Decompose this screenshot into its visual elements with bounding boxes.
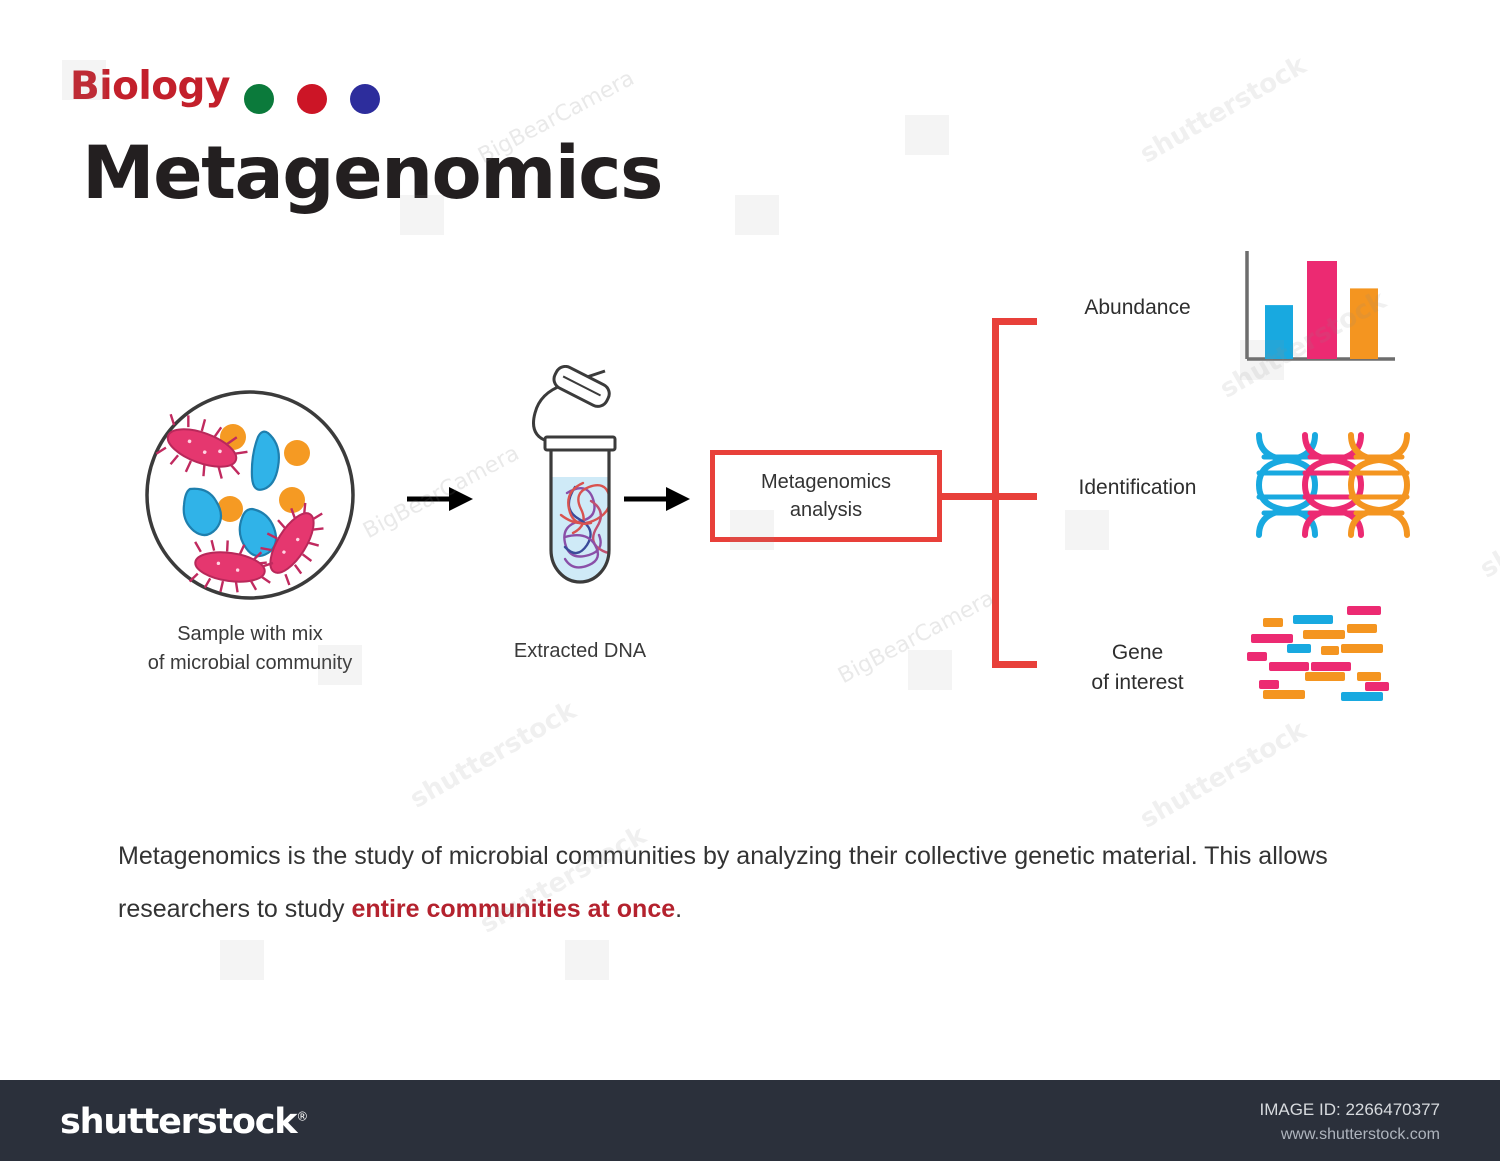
watermark-shutterstock: shutterstock xyxy=(1135,715,1311,834)
outcome-gene-label-line1: Gene xyxy=(1045,638,1230,668)
branch-bracket xyxy=(940,300,1060,690)
shutterstock-logo: shutterstock® xyxy=(60,1102,307,1142)
description-emphasis: entire communities at once xyxy=(351,895,675,923)
metagenomics-analysis-box[interactable]: Metagenomics analysis xyxy=(710,450,942,542)
outcome-gene-label-line2: of interest xyxy=(1045,668,1230,698)
outcome-identification: Identification xyxy=(1045,425,1465,545)
gene-fragments-icon xyxy=(1235,600,1410,720)
outcome-abundance-label-line1: Abundance xyxy=(1045,293,1230,323)
blue-dot-icon xyxy=(350,84,380,114)
bracket-stub-identification xyxy=(942,493,1037,500)
outcome-gene-label: Gene of interest xyxy=(1045,638,1230,698)
kicker-biology: Biology xyxy=(70,64,230,109)
analysis-label-line1: Metagenomics xyxy=(761,468,891,496)
outcome-identification-label-line1: Identification xyxy=(1045,473,1230,503)
bracket-stub-gene xyxy=(992,661,1037,668)
petri-dish-icon xyxy=(140,385,360,615)
extracted-dna-caption: Extracted DNA xyxy=(470,640,690,663)
bar-chart-icon xyxy=(1235,245,1410,365)
outcome-abundance-label: Abundance xyxy=(1045,293,1230,323)
watermark-shutterstock: shutterstock xyxy=(405,695,581,814)
bar-taxon-c xyxy=(1350,288,1378,359)
dna-helix-icon xyxy=(1235,425,1410,545)
footer-bar: shutterstock® IMAGE ID: 2266470377 www.s… xyxy=(0,1080,1500,1161)
infographic-canvas: Biology Metagenomics xyxy=(0,0,1500,1080)
description-paragraph: Metagenomics is the study of microbial c… xyxy=(118,830,1408,936)
bar-taxon-b xyxy=(1307,261,1337,359)
description-part1: Metagenomics is the study of microbial c… xyxy=(118,842,1328,923)
analysis-box-label: Metagenomics analysis xyxy=(761,468,891,524)
arrow-right-icon-2 xyxy=(622,482,692,521)
outcome-gene-of-interest: Gene of interest xyxy=(1045,600,1465,720)
green-dot-icon xyxy=(244,84,274,114)
analysis-label-line2: analysis xyxy=(761,496,891,524)
bracket-stub-abundance xyxy=(992,318,1037,325)
sample-stage: Sample with mix of microbial community xyxy=(140,385,360,685)
outcome-abundance: Abundance xyxy=(1045,245,1465,365)
sample-caption: Sample with mix of microbial community xyxy=(120,620,380,678)
watermark-shutterstock: shutterstock xyxy=(1475,465,1500,584)
page-title: Metagenomics xyxy=(82,131,662,216)
sample-caption-line2: of microbial community xyxy=(120,649,380,678)
red-dot-icon xyxy=(297,84,327,114)
header: Biology Metagenomics xyxy=(0,0,1500,230)
description-part2: . xyxy=(675,895,682,923)
footer-image-id: IMAGE ID: 2266470377 xyxy=(1259,1100,1440,1120)
footer-url: www.shutterstock.com xyxy=(1281,1126,1440,1144)
outcome-identification-label: Identification xyxy=(1045,473,1230,503)
arrow-right-icon-1 xyxy=(405,482,475,521)
bar-taxon-a xyxy=(1265,305,1293,359)
sample-caption-line1: Sample with mix xyxy=(120,620,380,649)
